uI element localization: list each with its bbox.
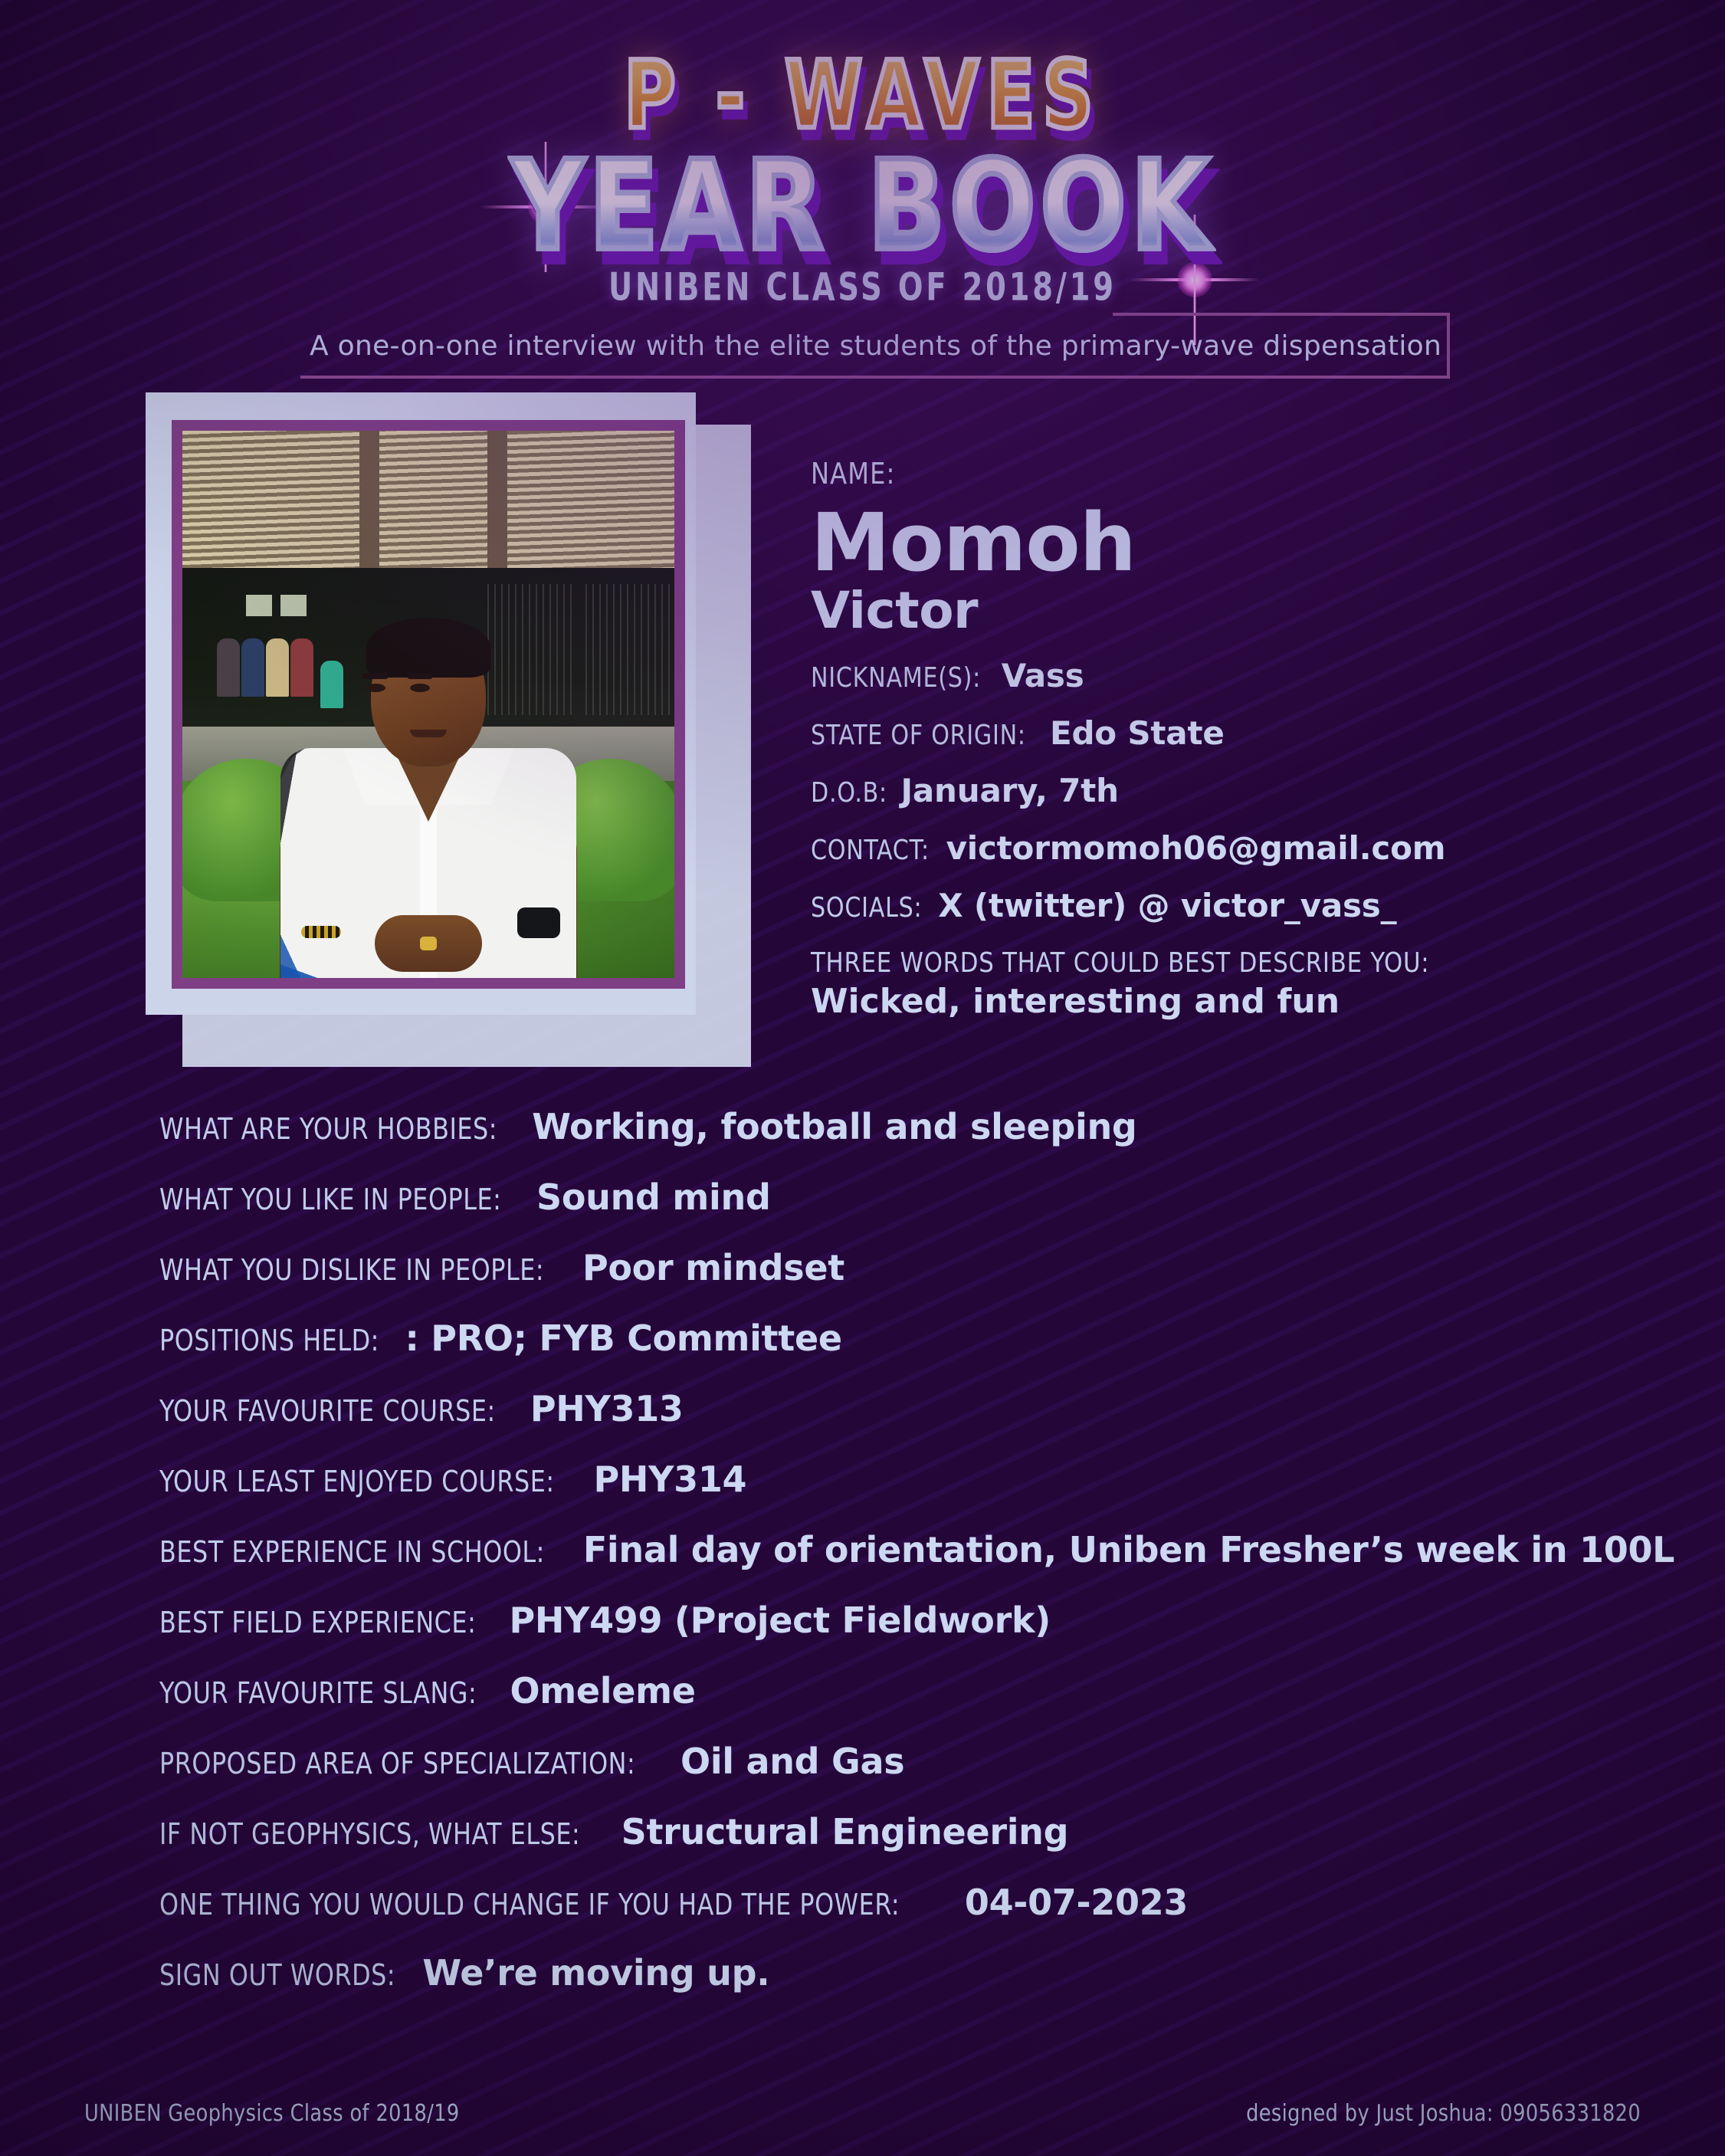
photo-pillar xyxy=(487,431,507,568)
name-label: NAME: xyxy=(811,457,1632,491)
banner-border-bottom xyxy=(300,376,1450,379)
banner-border-right xyxy=(1447,313,1450,379)
qa-row-positions-held: POSITIONS HELD: : PRO; FYB Committee xyxy=(159,1318,1661,1388)
qa-answer: PHY499 (Project Fieldwork) xyxy=(509,1600,1051,1641)
field-value: X (twitter) @ victor_vass_ xyxy=(938,887,1396,924)
profile-field-socials: SOCIALS: X (twitter) @ victor_vass_ xyxy=(811,887,1684,924)
profile-field-contact: CONTACT: victormomoh06@gmail.com xyxy=(811,829,1684,867)
profile-field-state-of-origin: STATE OF ORIGIN: Edo State xyxy=(811,714,1684,752)
qa-row-specialization: PROPOSED AREA OF SPECIALIZATION: Oil and… xyxy=(159,1741,1661,1811)
qa-row-if-not-geophysics: IF NOT GEOPHYSICS, WHAT ELSE: Structural… xyxy=(159,1811,1661,1882)
qa-answer: Working, football and sleeping xyxy=(532,1106,1136,1147)
photo-subject-eye xyxy=(366,684,385,692)
profile-details: NAME: Momoh Victor NICKNAME(S): Vass STA… xyxy=(811,457,1684,1021)
field-label: THREE WORDS THAT COULD BEST DESCRIBE YOU… xyxy=(811,947,1641,979)
logo-subtitle-class: UNIBEN CLASS OF 2018/19 xyxy=(525,265,1199,310)
qa-answer: Omeleme xyxy=(510,1670,695,1711)
photo-building-roof xyxy=(182,431,674,568)
profile-field-three-words: THREE WORDS THAT COULD BEST DESCRIBE YOU… xyxy=(811,947,1684,1021)
qa-question: YOUR FAVOURITE SLANG: xyxy=(159,1676,477,1710)
qa-row-sign-out-words: SIGN OUT WORDS: We’re moving up. xyxy=(159,1952,1661,2023)
qa-question: BEST EXPERIENCE IN SCHOOL: xyxy=(159,1535,545,1569)
profile-field-dob: D.O.B: January, 7th xyxy=(811,772,1684,809)
profile-photo-frame xyxy=(146,392,751,1067)
yearbook-page: P - WAVES YEAR BOOK UNIBEN CLASS OF 2018… xyxy=(0,0,1725,2156)
photo-subject-hair xyxy=(366,618,490,678)
page-header: P - WAVES YEAR BOOK UNIBEN CLASS OF 2018… xyxy=(0,0,1725,299)
qa-row-hobbies: WHAT ARE YOUR HOBBIES: Working, football… xyxy=(159,1106,1661,1176)
qa-answer: Final day of orientation, Uniben Fresher… xyxy=(583,1529,1674,1570)
photo-wall-sign xyxy=(246,595,272,616)
qa-answer: Poor mindset xyxy=(582,1247,844,1288)
photo-subject-eye xyxy=(410,684,430,692)
qa-question: BEST FIELD EXPERIENCE: xyxy=(159,1606,476,1639)
photo-subject-bracelet xyxy=(301,926,341,938)
field-value: January, 7th xyxy=(900,772,1118,809)
footer-class-label: UNIBEN Geophysics Class of 2018/19 xyxy=(84,2100,460,2127)
photo-subject-ring xyxy=(420,937,437,950)
photo-subject-watch xyxy=(517,907,560,938)
logo-title-yearbook: YEAR BOOK xyxy=(511,150,1214,264)
qa-answer: PHY314 xyxy=(594,1459,747,1500)
field-label: D.O.B: xyxy=(811,777,887,809)
subtitle-banner: A one-on-one interview with the elite st… xyxy=(300,313,1450,379)
qa-question: PROPOSED AREA OF SPECIALIZATION: xyxy=(159,1747,635,1780)
photo-subject-eyebrow xyxy=(362,673,389,679)
profile-last-name: Victor xyxy=(811,584,1684,637)
qa-row-one-thing-to-change: ONE THING YOU WOULD CHANGE IF YOU HAD TH… xyxy=(159,1882,1661,1952)
field-label: STATE OF ORIGIN: xyxy=(811,720,1026,751)
logo-title-pwaves: P - WAVES xyxy=(511,51,1214,139)
photo-pillar xyxy=(359,431,379,568)
page-footer: UNIBEN Geophysics Class of 2018/19 desig… xyxy=(0,2100,1725,2127)
photo-subject-eyebrow xyxy=(407,673,433,679)
profile-first-name: Momoh xyxy=(811,503,1684,582)
qa-question: WHAT YOU DISLIKE IN PEOPLE: xyxy=(159,1253,544,1287)
qa-question: YOUR FAVOURITE COURSE: xyxy=(159,1394,496,1428)
profile-photo xyxy=(182,431,674,978)
photo-wall-sign xyxy=(280,595,307,616)
qa-answer: PHY313 xyxy=(530,1388,684,1429)
qa-answer: Oil and Gas xyxy=(680,1741,904,1782)
qa-row-favourite-course: YOUR FAVOURITE COURSE: PHY313 xyxy=(159,1388,1661,1459)
profile-field-nickname: NICKNAME(S): Vass xyxy=(811,657,1684,694)
qa-row-favourite-slang: YOUR FAVOURITE SLANG: Omeleme xyxy=(159,1670,1661,1741)
interview-questions-list: WHAT ARE YOUR HOBBIES: Working, football… xyxy=(159,1106,1661,2023)
qa-question: ONE THING YOU WOULD CHANGE IF YOU HAD TH… xyxy=(159,1888,900,1921)
qa-answer: We’re moving up. xyxy=(422,1952,769,1994)
yearbook-logo: P - WAVES YEAR BOOK UNIBEN CLASS OF 2018… xyxy=(511,73,1214,305)
qa-question: YOUR LEAST ENJOYED COURSE: xyxy=(159,1465,555,1498)
field-value: victormomoh06@gmail.com xyxy=(946,829,1446,867)
qa-question: WHAT YOU LIKE IN PEOPLE: xyxy=(159,1183,501,1216)
qa-question: IF NOT GEOPHYSICS, WHAT ELSE: xyxy=(159,1817,580,1851)
photo-subject xyxy=(275,618,582,978)
field-label: NICKNAME(S): xyxy=(811,662,981,694)
field-value: Edo State xyxy=(1050,714,1225,752)
qa-question: POSITIONS HELD: xyxy=(159,1324,379,1357)
photo-subject-mouth xyxy=(410,730,447,737)
qa-answer: Sound mind xyxy=(536,1176,771,1218)
qa-answer: : PRO; FYB Committee xyxy=(405,1318,842,1359)
qa-row-dislike-in-people: WHAT YOU DISLIKE IN PEOPLE: Poor mindset xyxy=(159,1247,1661,1318)
qa-row-best-field-experience: BEST FIELD EXPERIENCE: PHY499 (Project F… xyxy=(159,1600,1661,1670)
qa-answer: Structural Engineering xyxy=(621,1811,1069,1852)
photo-background-person xyxy=(217,638,240,697)
qa-answer: 04-07-2023 xyxy=(965,1882,1188,1923)
field-label: CONTACT: xyxy=(811,835,930,866)
qa-row-least-enjoyed-course: YOUR LEAST ENJOYED COURSE: PHY314 xyxy=(159,1459,1661,1529)
field-label: SOCIALS: xyxy=(811,892,922,924)
footer-designer-credit: designed by Just Joshua: 09056331820 xyxy=(1246,2100,1641,2127)
subtitle-text: A one-on-one interview with the elite st… xyxy=(310,316,1441,376)
field-value: Vass xyxy=(1002,657,1084,694)
field-value: Wicked, interesting and fun xyxy=(811,982,1684,1021)
photo-background-person xyxy=(241,638,264,697)
qa-row-like-in-people: WHAT YOU LIKE IN PEOPLE: Sound mind xyxy=(159,1176,1661,1247)
qa-row-best-experience-in-school: BEST EXPERIENCE IN SCHOOL: Final day of … xyxy=(159,1529,1661,1600)
qa-question: WHAT ARE YOUR HOBBIES: xyxy=(159,1112,497,1146)
qa-question: SIGN OUT WORDS: xyxy=(159,1958,395,1992)
photo-window-grille xyxy=(585,584,674,715)
